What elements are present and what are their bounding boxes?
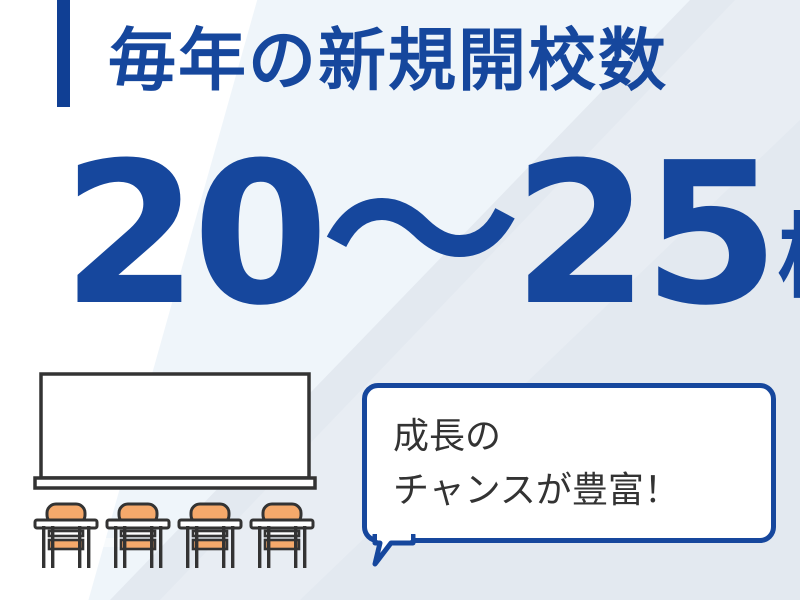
classroom-svg — [30, 360, 350, 580]
figure-block: 20〜25 校 — [62, 150, 800, 320]
poster-canvas: 毎年の新規開校数 20〜25 校 — [0, 0, 800, 600]
desk-group — [35, 504, 313, 568]
chalk-tray — [35, 478, 315, 488]
callout-bubble: 成長の チャンスが豊富！ — [362, 383, 776, 543]
desk-icon — [179, 504, 241, 568]
callout-bubble-tail — [371, 534, 417, 568]
figure-unit-label: 校 — [778, 202, 800, 314]
figure-range-value: 20〜25 — [62, 150, 774, 320]
desk-icon — [35, 504, 97, 568]
whiteboard-icon — [35, 374, 315, 488]
desk-icon — [251, 504, 313, 568]
chalk-icon — [253, 466, 275, 475]
classroom-illustration — [30, 360, 350, 580]
desk-icon — [107, 504, 169, 568]
page-title: 毎年の新規開校数 — [108, 20, 668, 104]
chalk-icon — [231, 466, 247, 475]
headline-accent-bar — [57, 0, 70, 107]
callout-text: 成長の チャンスが豊富！ — [393, 410, 680, 518]
